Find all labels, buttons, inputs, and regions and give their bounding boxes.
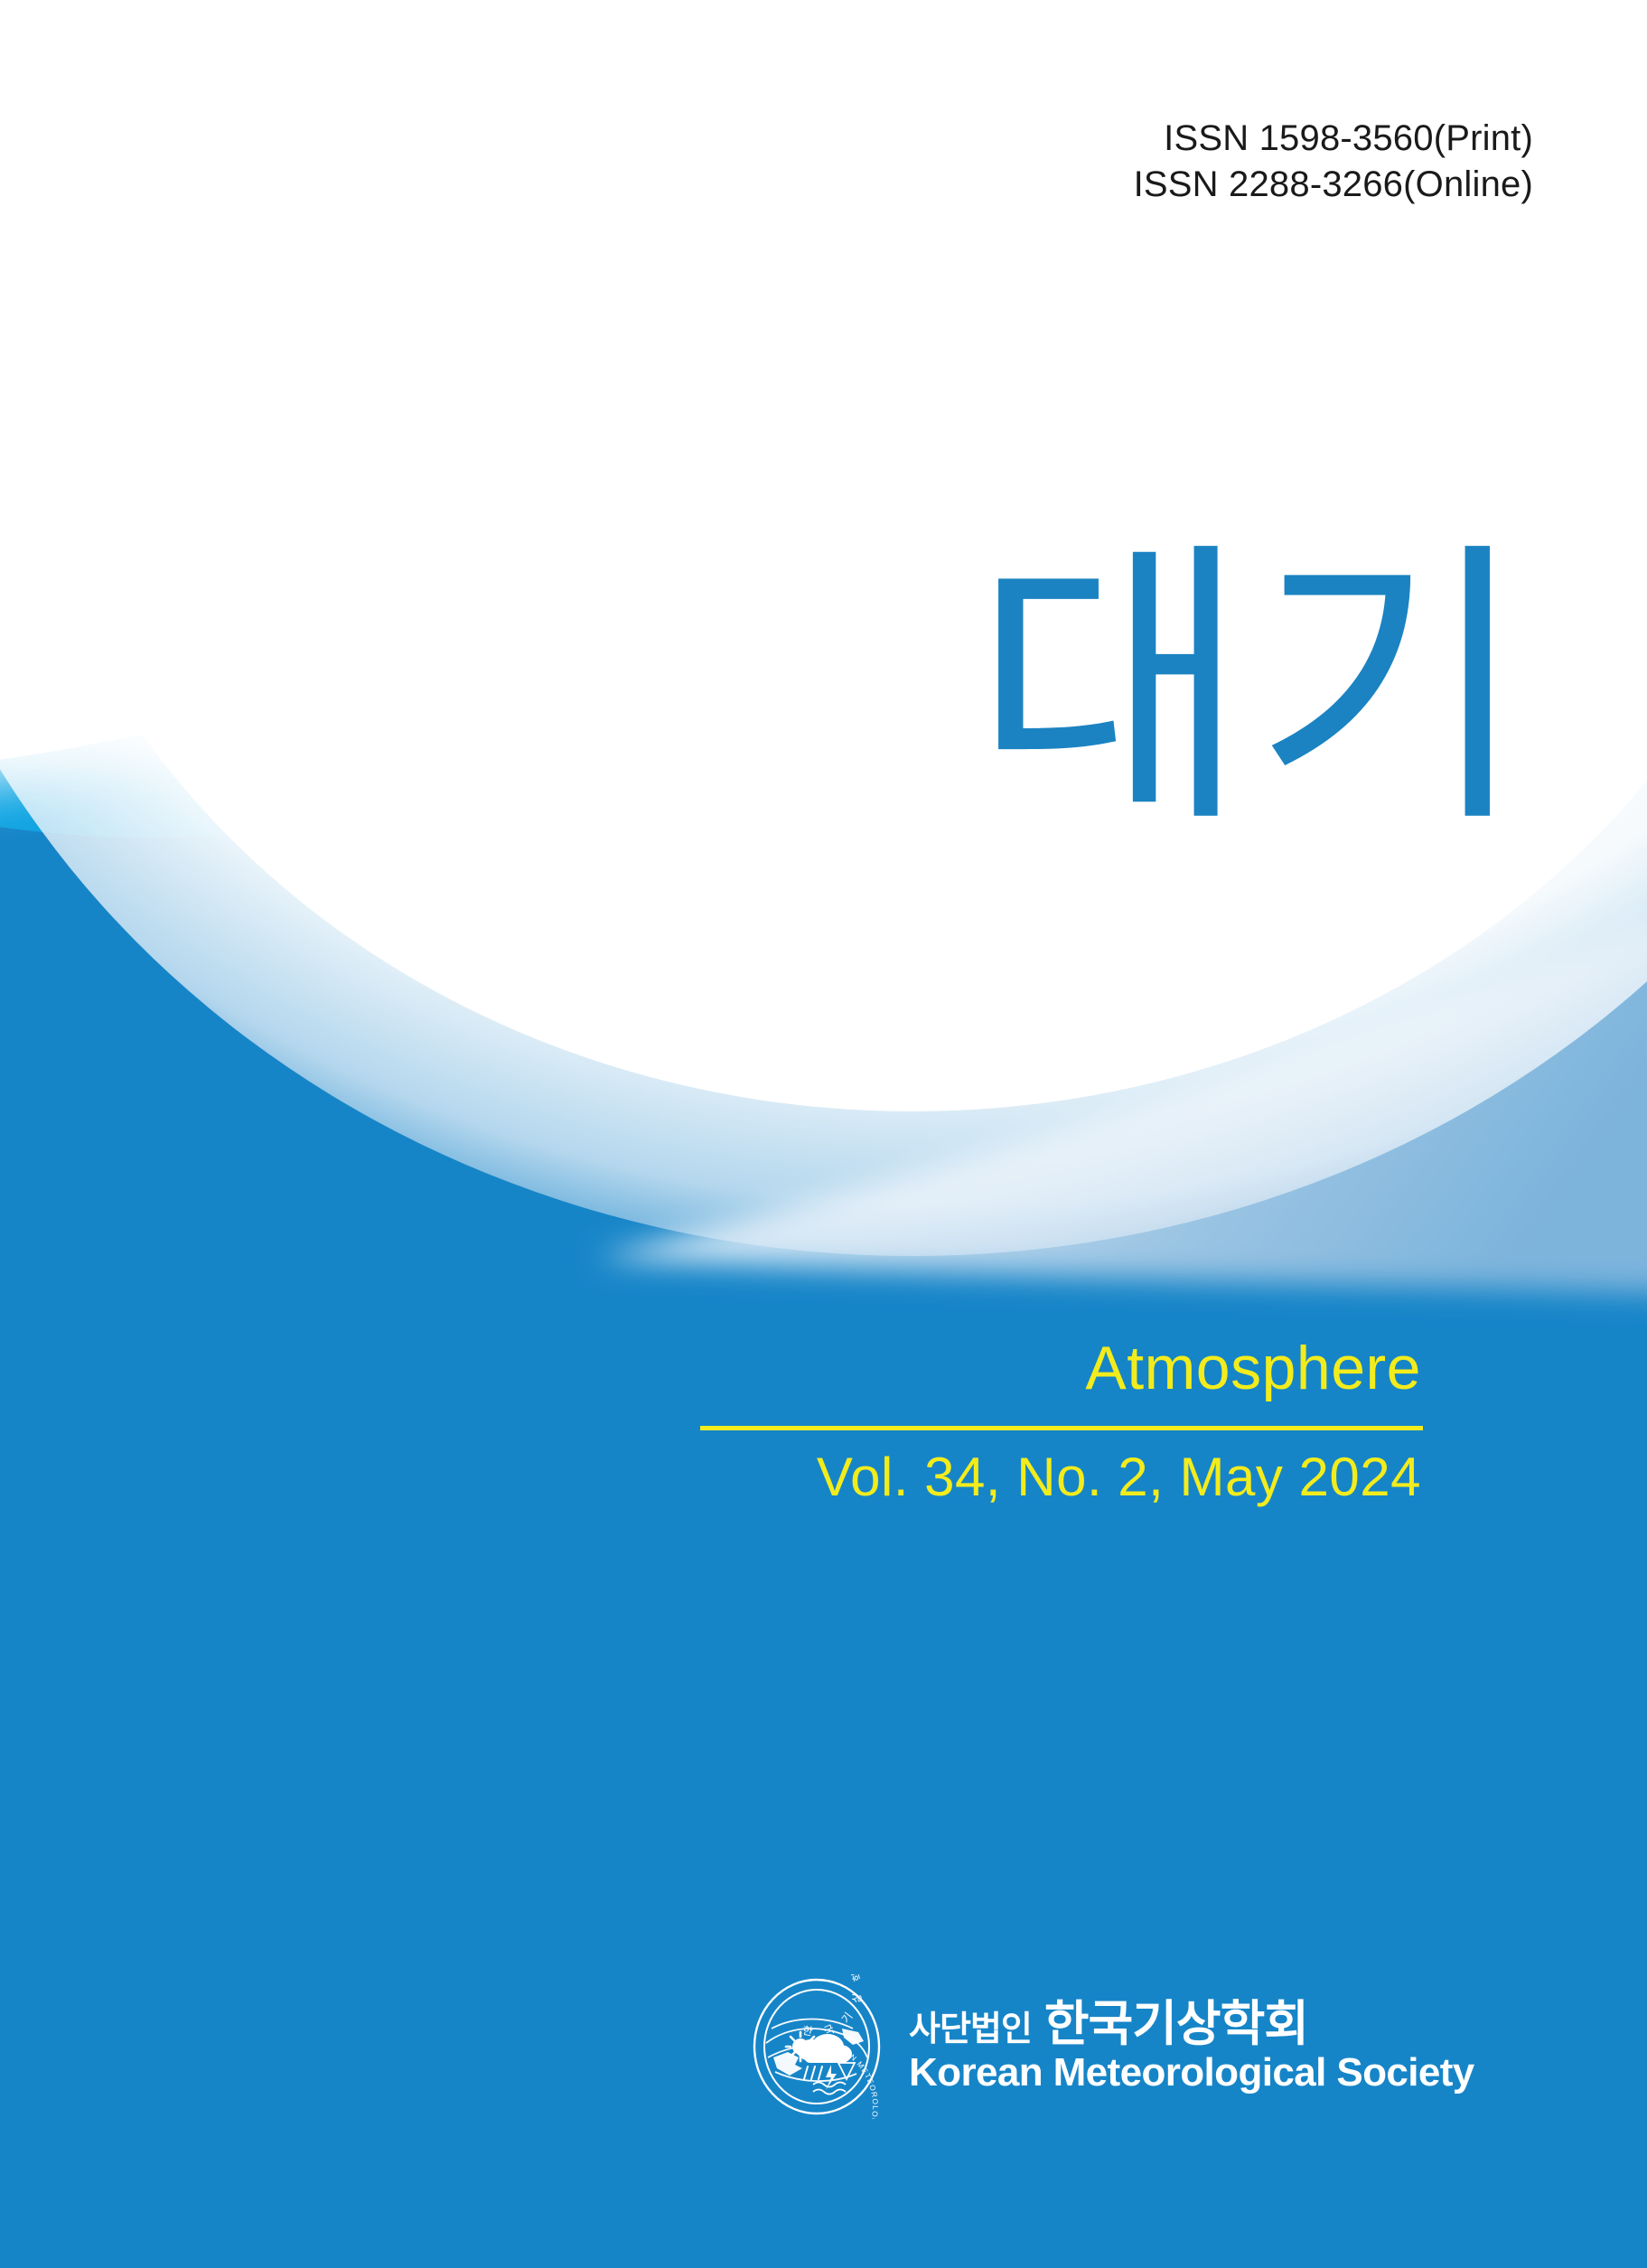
- issn-online: ISSN 2288-3266(Online): [1134, 162, 1533, 208]
- korean-meteorological-society-seal-icon: KOREAN METEOROLOGICAL SOCIETY · 1963 한 국…: [748, 1974, 885, 2119]
- issue-block: Atmosphere Vol. 34, No. 2, May 2024: [700, 1337, 1423, 1504]
- journal-cover: ISSN 1598-3560(Print) ISSN 2288-3266(Onl…: [0, 0, 1647, 2268]
- society-name-english: Korean Meteorological Society: [909, 2053, 1474, 2094]
- society-name-korean-main: 한국기상학회: [1044, 1997, 1308, 2051]
- issn-print: ISSN 1598-3560(Print): [1134, 116, 1533, 162]
- seal-rain-icon: [804, 2067, 822, 2079]
- journal-title-english: Atmosphere: [700, 1337, 1423, 1399]
- society-name-korean-prefix: 사단법인: [909, 2010, 1032, 2048]
- society-name-block: 사단법인 한국기상학회 Korean Meteorological Societ…: [909, 2000, 1474, 2094]
- issue-divider-rule: [700, 1426, 1423, 1430]
- issn-block: ISSN 1598-3560(Print) ISSN 2288-3266(Onl…: [1134, 116, 1533, 208]
- cover-background-artwork: [0, 0, 1647, 2268]
- journal-title-korean: 대기: [974, 540, 1426, 839]
- society-logo: KOREAN METEOROLOGICAL SOCIETY · 1963 한 국…: [748, 1974, 1474, 2119]
- society-name-korean: 사단법인 한국기상학회: [909, 2000, 1474, 2049]
- issue-volume-number-date: Vol. 34, No. 2, May 2024: [700, 1450, 1423, 1504]
- seal-ring-text-korean: 한 국 기 상 학 회: [801, 1974, 865, 2039]
